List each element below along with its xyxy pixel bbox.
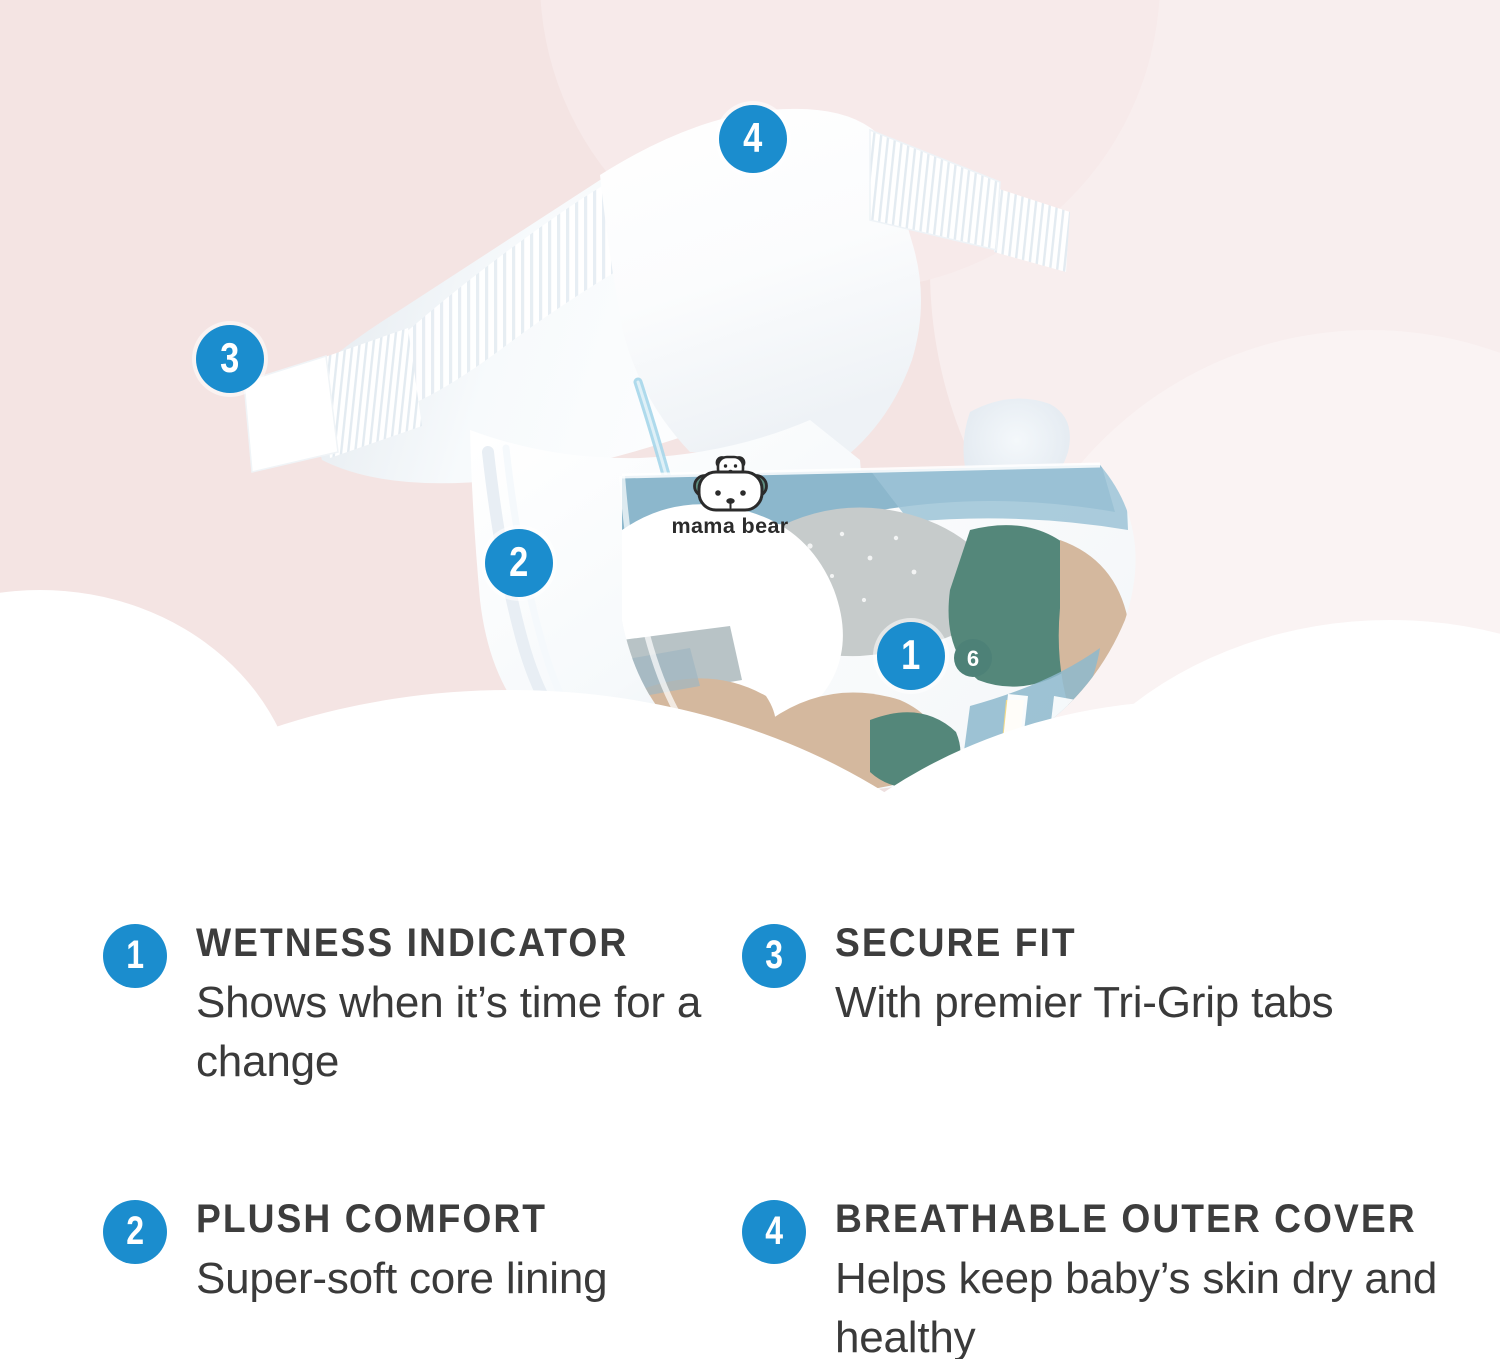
feature-badge-1-label: 1	[126, 935, 144, 975]
feature-list: 1 WETNESS INDICATOR Shows when it’s time…	[0, 800, 1500, 1359]
feature-title-3: SECURE FIT	[835, 922, 1299, 964]
feature-badge-1: 1	[103, 924, 167, 988]
feature-text-3: SECURE FIT With premier Tri-Grip tabs	[835, 922, 1333, 1033]
feature-item-wetness-indicator: 1 WETNESS INDICATOR Shows when it’s time…	[103, 922, 703, 1092]
feature-badge-4: 4	[742, 1200, 806, 1264]
product-feature-infographic: mama bear 6 1 2 3 4	[0, 0, 1500, 1359]
size-badge-label: 6	[967, 646, 979, 671]
image-callout-2[interactable]: 2	[485, 529, 553, 597]
image-callout-4-label: 4	[743, 117, 762, 159]
mama-bear-icon	[695, 472, 767, 510]
feature-item-breathable-outer-cover: 4 BREATHABLE OUTER COVER Helps keep baby…	[742, 1198, 1442, 1359]
feature-text-2: PLUSH COMFORT Super-soft core lining	[196, 1198, 607, 1309]
hero-banner: mama bear 6 1 2 3 4	[0, 0, 1500, 800]
brand-wordmark: mama bear	[671, 514, 788, 538]
diaper-tab-top-right-ext	[994, 188, 1070, 272]
image-callout-3[interactable]: 3	[196, 325, 264, 393]
feature-title-1: WETNESS INDICATOR	[196, 922, 668, 964]
image-callout-1[interactable]: 1	[877, 622, 945, 690]
feature-text-4: BREATHABLE OUTER COVER Helps keep baby’s…	[835, 1198, 1460, 1359]
size-badge: 6	[954, 639, 992, 677]
feature-badge-2-label: 2	[126, 1211, 144, 1251]
feature-badge-3: 3	[742, 924, 806, 988]
feature-desc-4: Helps keep baby’s skin dry and healthy	[835, 1250, 1460, 1359]
feature-badge-2: 2	[103, 1200, 167, 1264]
diaper-product-image: mama bear 6	[170, 60, 1180, 800]
feature-title-2: PLUSH COMFORT	[196, 1198, 579, 1240]
image-callout-1-label: 1	[901, 634, 920, 676]
feature-text-1: WETNESS INDICATOR Shows when it’s time f…	[196, 922, 703, 1092]
image-callout-3-label: 3	[220, 337, 239, 379]
feature-desc-1: Shows when it’s time for a change	[196, 974, 703, 1092]
feature-badge-3-label: 3	[765, 935, 783, 975]
feature-desc-3: With premier Tri-Grip tabs	[835, 974, 1333, 1033]
feature-title-4: BREATHABLE OUTER COVER	[835, 1198, 1417, 1240]
image-callout-4[interactable]: 4	[719, 105, 787, 173]
feature-badge-4-label: 4	[765, 1211, 783, 1251]
feature-item-secure-fit: 3 SECURE FIT With premier Tri-Grip tabs	[742, 922, 1442, 1033]
feature-item-plush-comfort: 2 PLUSH COMFORT Super-soft core lining	[103, 1198, 703, 1309]
image-callout-2-label: 2	[509, 541, 528, 583]
feature-desc-2: Super-soft core lining	[196, 1250, 607, 1309]
